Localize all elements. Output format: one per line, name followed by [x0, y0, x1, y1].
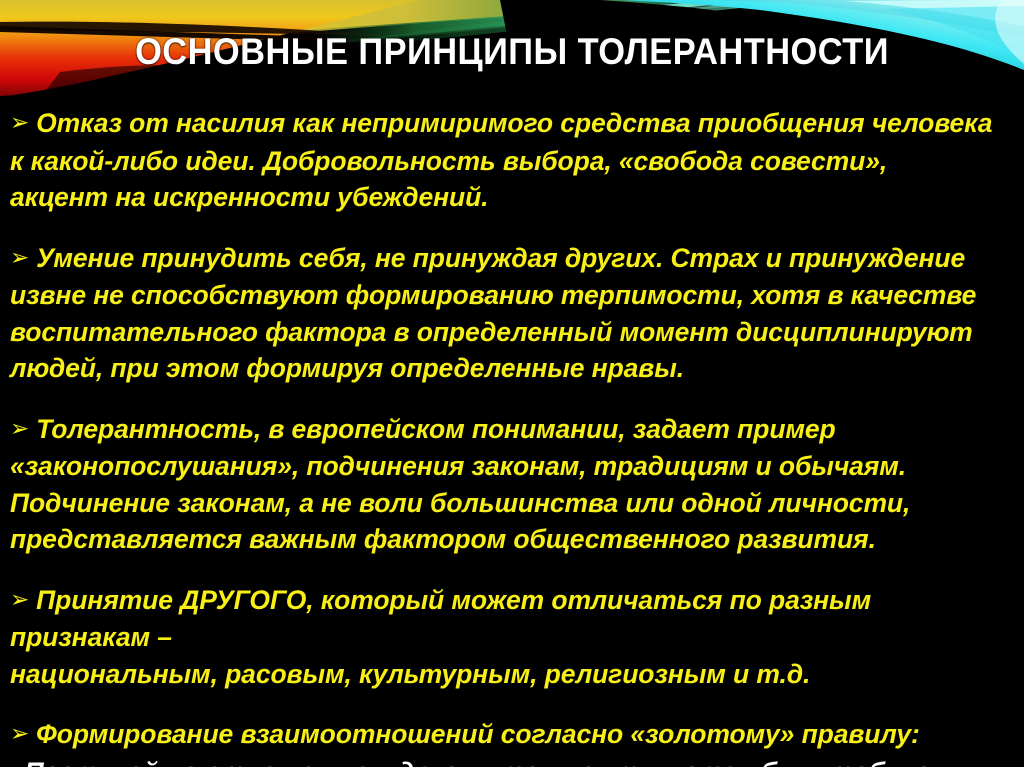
bullet-european-line-3: Подчинение законам, а не воли большинств…: [10, 488, 910, 518]
bullet-arrow-icon: ➢: [10, 410, 29, 447]
bullet-accepting-other-line-2: национальным, расовым, культурным, религ…: [10, 659, 810, 689]
bullet-nonviolence-line-1: Отказ от насилия как непримиримого средс…: [36, 108, 992, 138]
bullet-european-line-1: Толерантность, в европейском понимании, …: [36, 414, 835, 444]
bullet-self-restraint: ➢Умение принудить себя, не принуждая дру…: [10, 240, 1014, 387]
bullet-self-restraint-line-1: Умение принудить себя, не принуждая друг…: [36, 243, 965, 273]
bullet-nonviolence-line-3: акцент на искренности убеждений.: [10, 182, 488, 212]
slide-body: ➢Отказ от насилия как непримиримого сред…: [10, 105, 1014, 760]
bullet-nonviolence-line-2: к какой-либо идеи. Добровольность выбора…: [10, 146, 887, 176]
slide: ОСНОВНЫЕ ПРИНЦИПЫ ТОЛЕРАНТНОСТИ ➢Отказ о…: [0, 0, 1024, 767]
bullet-arrow-icon: ➢: [10, 715, 29, 752]
bullet-self-restraint-line-2: извне не способствуют формированию терпи…: [10, 280, 976, 310]
bullet-accepting-other: ➢Принятие ДРУГОГО, который может отличат…: [10, 582, 1014, 693]
bullet-nonviolence: ➢Отказ от насилия как непримиримого сред…: [10, 105, 1014, 216]
bullet-arrow-icon: ➢: [10, 104, 29, 141]
bullet-european-line-4: представляется важным фактором обществен…: [10, 524, 876, 554]
bullet-arrow-icon: ➢: [10, 581, 29, 618]
bullet-golden-rule-quote-line-1: «Поступай по отношению к другим так, как…: [10, 757, 963, 767]
bullet-accepting-other-line-1: Принятие ДРУГОГО, который может отличать…: [10, 585, 871, 653]
bullet-golden-rule: ➢Формирование взаимоотношений согласно «…: [10, 716, 1014, 767]
bullet-arrow-icon: ➢: [10, 239, 29, 276]
bullet-self-restraint-line-4: людей, при этом формируя определенные нр…: [10, 353, 684, 383]
bullet-european-understanding: ➢Толерантность, в европейском понимании,…: [10, 411, 1014, 558]
bullet-european-line-2: «законопослушания», подчинения законам, …: [10, 451, 906, 481]
page-title: ОСНОВНЫЕ ПРИНЦИПЫ ТОЛЕРАНТНОСТИ: [36, 30, 988, 74]
bullet-golden-rule-heading: Формирование взаимоотношений согласно «з…: [36, 719, 920, 749]
bullet-self-restraint-line-3: воспитательного фактора в определенный м…: [10, 317, 973, 347]
